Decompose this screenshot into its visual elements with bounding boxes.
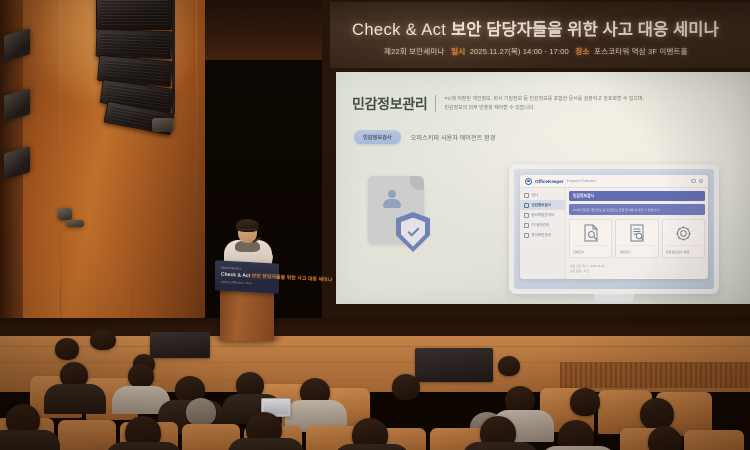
monitor-screen: OfficeKeeper Endpoint Protection 검사	[514, 169, 714, 289]
sidebar-item-label: 문서백업관리자	[532, 213, 555, 218]
person-icon	[382, 190, 402, 210]
sidebar-item-document-backup[interactable]: 문서백업관리자	[520, 210, 565, 220]
audience-shoulders	[540, 446, 616, 450]
banner-title: Check & Act 보안 담당자들을 위한 사고 대응 세미나	[352, 16, 738, 40]
slide-subheader-row: 민감정보검사 오피스키퍼 사용자 에이전트 환경	[354, 130, 496, 144]
banner-title-latin: Check & Act	[352, 21, 446, 39]
banner-date-value: 2025.11.27(목) 14:00 - 17:00	[470, 47, 569, 56]
officekeeper-logo-icon	[525, 178, 532, 185]
app-sidebar: 검사 민감정보검사 문서백업관리자	[520, 188, 566, 279]
sidebar-item-pc-info[interactable]: PC정보관리	[520, 221, 565, 231]
chevron-right-icon: ›	[654, 249, 655, 253]
slide-row-text: 오피스키퍼 사용자 에이전트 환경	[411, 133, 496, 142]
magnifier-icon	[524, 203, 529, 208]
audience-head	[570, 388, 600, 416]
banner-title-korean: 보안 담당자들을 위한 사고 대응 세미나	[451, 21, 719, 39]
action-card-list: 전체검사 ›	[569, 219, 705, 258]
card-full-scan[interactable]: 전체검사 ›	[569, 219, 612, 258]
wall-seam	[196, 0, 197, 348]
app-product-name: OfficeKeeper	[535, 179, 564, 184]
document-search-icon	[573, 224, 608, 242]
monitor-base	[576, 302, 652, 304]
card-scan-settings[interactable]: 민감정보검사 설정 ›	[662, 219, 705, 258]
seat	[684, 430, 744, 450]
speaker-box	[96, 0, 172, 30]
banner-place-label: 장소	[575, 47, 589, 56]
content-banner-title-bar: 민감정보검사	[569, 191, 705, 201]
equipment-case	[150, 332, 210, 358]
card-title: 선택검사	[619, 249, 630, 254]
audience-shoulders	[44, 384, 106, 414]
shield-check-icon	[396, 212, 430, 252]
slide-title-divider	[435, 95, 436, 112]
sidebar-item-label: PC정보관리	[532, 223, 550, 228]
gear-icon	[666, 224, 701, 242]
window-controls[interactable]	[691, 179, 703, 184]
slide-header: 민감정보관리 PC에 저장된 개인정보, 회사 기밀정보 등 민감정보를 포함한…	[352, 94, 644, 114]
eyeglasses-icon	[239, 229, 256, 233]
monitor-mockup: OfficeKeeper Endpoint Protection 검사	[509, 164, 719, 294]
podium-branding: 제22회 보안세미나 Check & Act 보안 담당자들을 위한 사고 대응…	[221, 266, 273, 286]
minimize-icon[interactable]	[691, 179, 696, 184]
note-line-2: 검출 문서 : 0 건	[570, 269, 704, 274]
close-icon[interactable]	[699, 179, 704, 184]
audience-shoulders	[0, 430, 60, 450]
card-title: 전체검사	[573, 249, 584, 254]
monitor-icon	[524, 223, 529, 228]
banner-session: 제22회 보안세미나	[384, 47, 444, 56]
auditorium-seminar-photo: Check & Act 보안 담당자들을 위한 사고 대응 세미나 제22회 보…	[0, 0, 750, 450]
sidebar-item-label: 민감정보검사	[532, 203, 551, 208]
seminar-banner: Check & Act 보안 담당자들을 위한 사고 대응 세미나 제22회 보…	[330, 2, 750, 68]
chevron-right-icon: ›	[607, 249, 608, 253]
ceiling-light-icon	[152, 118, 174, 132]
file-icon	[524, 233, 529, 238]
document-fold-corner	[410, 176, 424, 190]
slide-description-line2: 민감정보의 외부 반출을 제어할 수 있습니다.	[444, 104, 644, 113]
line-array-speaker	[96, 0, 184, 156]
audience-head	[498, 356, 520, 376]
wall-seam	[60, 0, 61, 348]
content-banner-description: PC에 저장된 개인정보 등 민감정보 포함 문서를 검사할 수 있습니다.	[573, 207, 701, 212]
lock-icon	[524, 213, 529, 218]
app-content: 민감정보검사 PC에 저장된 개인정보 등 민감정보 포함 문서를 검사할 수 …	[566, 188, 708, 279]
presentation-slide: 민감정보관리 PC에 저장된 개인정보, 회사 기밀정보 등 민감정보를 포함한…	[336, 72, 750, 304]
chevron-right-icon: ›	[700, 249, 701, 253]
audience	[0, 330, 750, 450]
sidebar-item-sensitive-info-scan[interactable]: 민감정보검사	[520, 200, 565, 210]
ceiling-light-icon	[58, 208, 72, 220]
banner-place-value: 포스코타워 역삼 3F 이벤트홀	[594, 47, 688, 56]
left-wall-panel	[0, 0, 23, 348]
audience-shoulders	[462, 442, 538, 450]
audience-head	[55, 338, 79, 360]
audience-shoulders	[334, 444, 410, 450]
content-banner-title: 민감정보검사	[573, 194, 701, 199]
document-with-person-icon	[362, 172, 438, 256]
slide-badge: 민감정보검사	[354, 130, 401, 144]
officekeeper-app-window: OfficeKeeper Endpoint Protection 검사	[520, 175, 708, 279]
seat	[58, 420, 116, 450]
slide-description: PC에 저장된 개인정보, 회사 기밀정보 등 민감정보를 포함한 문서를 검출…	[444, 94, 644, 113]
podium-brand-latin: Check & Act	[221, 272, 250, 280]
sidebar-item-label: 검사	[532, 193, 538, 198]
card-selective-scan[interactable]: 선택검사 ›	[615, 219, 658, 258]
banner-date-label: 일시	[451, 47, 465, 56]
audience-shoulders	[106, 442, 182, 450]
audience-head	[186, 398, 216, 426]
slide-title: 민감정보관리	[352, 94, 427, 114]
content-banner-description-bar: PC에 저장된 개인정보 등 민감정보 포함 문서를 검사할 수 있습니다.	[569, 204, 705, 215]
audience-shoulders	[228, 438, 304, 450]
sidebar-item-document-security[interactable]: 문서보안관리	[520, 231, 565, 241]
podium: 제22회 보안세미나 Check & Act 보안 담당자들을 위한 사고 대응…	[215, 262, 279, 340]
sidebar-item-inspection[interactable]: 검사	[520, 190, 565, 200]
monitor-back	[415, 348, 493, 382]
audience-head	[90, 330, 116, 350]
banner-subtitle: 제22회 보안세미나 일시 2025.11.27(목) 14:00 - 17:0…	[384, 46, 744, 57]
slide-description-line1: PC에 저장된 개인정보, 회사 기밀정보 등 민감정보를 포함한 문서를 검출…	[444, 95, 644, 104]
card-title: 민감정보검사 설정	[666, 249, 690, 254]
app-product-tagline: Endpoint Protection	[567, 179, 597, 183]
shield-icon	[524, 193, 529, 198]
list-search-icon	[619, 224, 654, 242]
audience-head	[392, 374, 420, 400]
audience-head	[648, 426, 682, 450]
audience-head	[640, 398, 674, 430]
scan-status-note: 최근 검사 일시 : 2025-11-20 검출 문서 : 0 건	[569, 262, 705, 276]
audience-head	[128, 364, 154, 388]
ceiling-light-icon	[66, 220, 84, 227]
app-titlebar: OfficeKeeper Endpoint Protection	[520, 175, 708, 188]
sidebar-item-label: 문서보안관리	[532, 233, 551, 238]
